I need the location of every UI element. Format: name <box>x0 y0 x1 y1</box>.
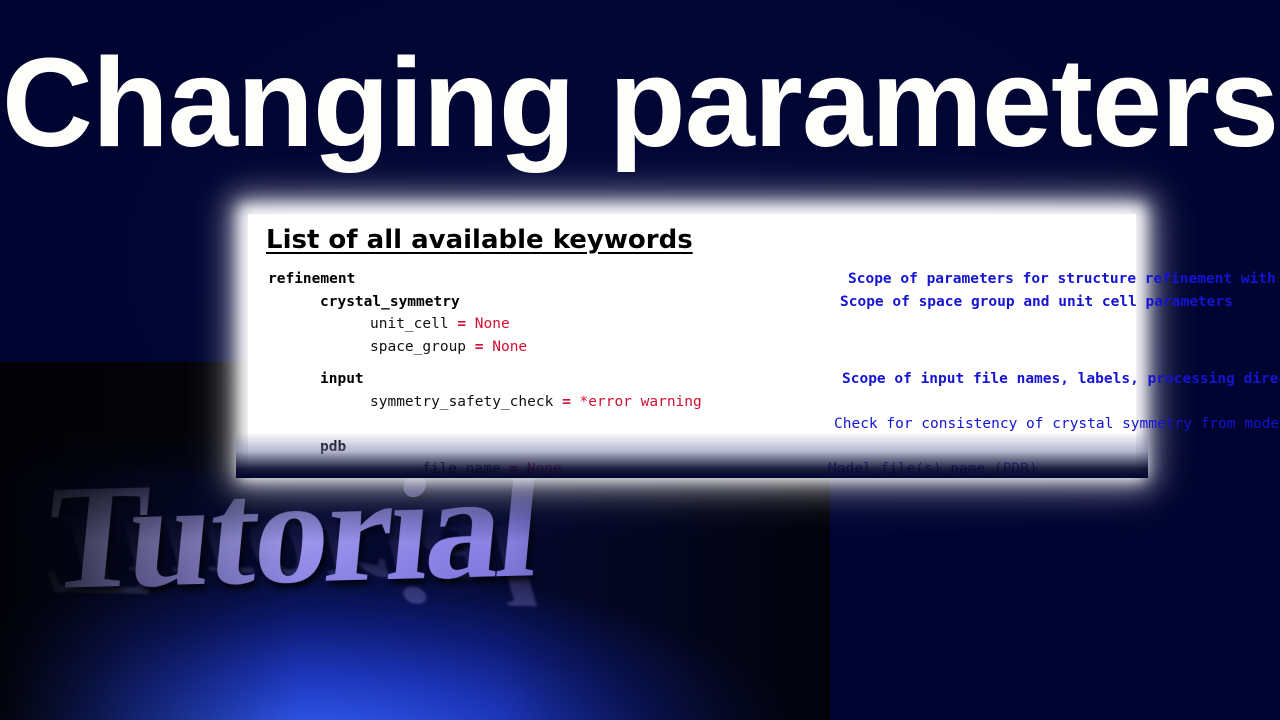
equals-sign: = <box>509 461 526 477</box>
slide-canvas: Changing parameters Tutorial Tutorial Li… <box>0 0 1280 720</box>
keyword-list-panel: List of all available keywords refinemen… <box>248 214 1136 470</box>
page-title: Changing parameters <box>0 28 1280 178</box>
keyword-line-left: file_name = None <box>422 458 562 481</box>
keyword-line-left: input <box>320 368 364 391</box>
equals-sign: = <box>457 316 474 332</box>
keyword-description: Check for consistency of crystal symmetr… <box>834 413 1280 436</box>
equals-sign: = <box>475 339 492 355</box>
keyword-line: unit_cell = None <box>248 313 1136 336</box>
keyword-line-left: pdb <box>320 436 346 459</box>
keyword-line-left: unit_cell = None <box>370 313 510 336</box>
keyword-description: Scope of space group and unit cell param… <box>840 291 1233 314</box>
scope-name: pdb <box>320 439 346 455</box>
keyword-description: Scope of parameters for structure refine… <box>848 268 1280 291</box>
keyword-line: refinementScope of parameters for struct… <box>248 268 1136 291</box>
keyword-line: symmetry_safety_check = *error warning <box>248 391 1136 414</box>
keyword-line: inputScope of input file names, labels, … <box>248 368 1136 391</box>
parameter-name: space_group <box>370 339 475 355</box>
keyword-lines: refinementScope of parameters for struct… <box>248 268 1136 481</box>
scope-name: refinement <box>268 271 355 287</box>
parameter-name: symmetry_safety_check <box>370 394 562 410</box>
parameter-name: unit_cell <box>370 316 457 332</box>
parameter-value: None <box>527 461 562 477</box>
parameter-value: *error warning <box>580 394 702 410</box>
parameter-name: file_name <box>422 461 509 477</box>
keyword-line-left: crystal_symmetry <box>320 291 460 314</box>
panel-heading: List of all available keywords <box>266 224 693 256</box>
line-spacer <box>248 358 1136 368</box>
keyword-line: space_group = None <box>248 336 1136 359</box>
scope-name: input <box>320 371 364 387</box>
scope-name: crystal_symmetry <box>320 294 460 310</box>
keyword-line: pdb <box>248 436 1136 459</box>
parameter-value: None <box>475 316 510 332</box>
keyword-line-left: refinement <box>268 268 355 291</box>
equals-sign: = <box>562 394 579 410</box>
keyword-line: crystal_symmetryScope of space group and… <box>248 291 1136 314</box>
keyword-description: Model file(s) name (PDB) <box>828 458 1038 481</box>
keyword-line: Check for consistency of crystal symmetr… <box>248 413 1136 436</box>
keyword-line-left: space_group = None <box>370 336 527 359</box>
keyword-description: Scope of input file names, labels, proce… <box>842 368 1280 391</box>
parameter-value: None <box>492 339 527 355</box>
keyword-line: file_name = NoneModel file(s) name (PDB) <box>248 458 1136 481</box>
keyword-line-left: symmetry_safety_check = *error warning <box>370 391 702 414</box>
